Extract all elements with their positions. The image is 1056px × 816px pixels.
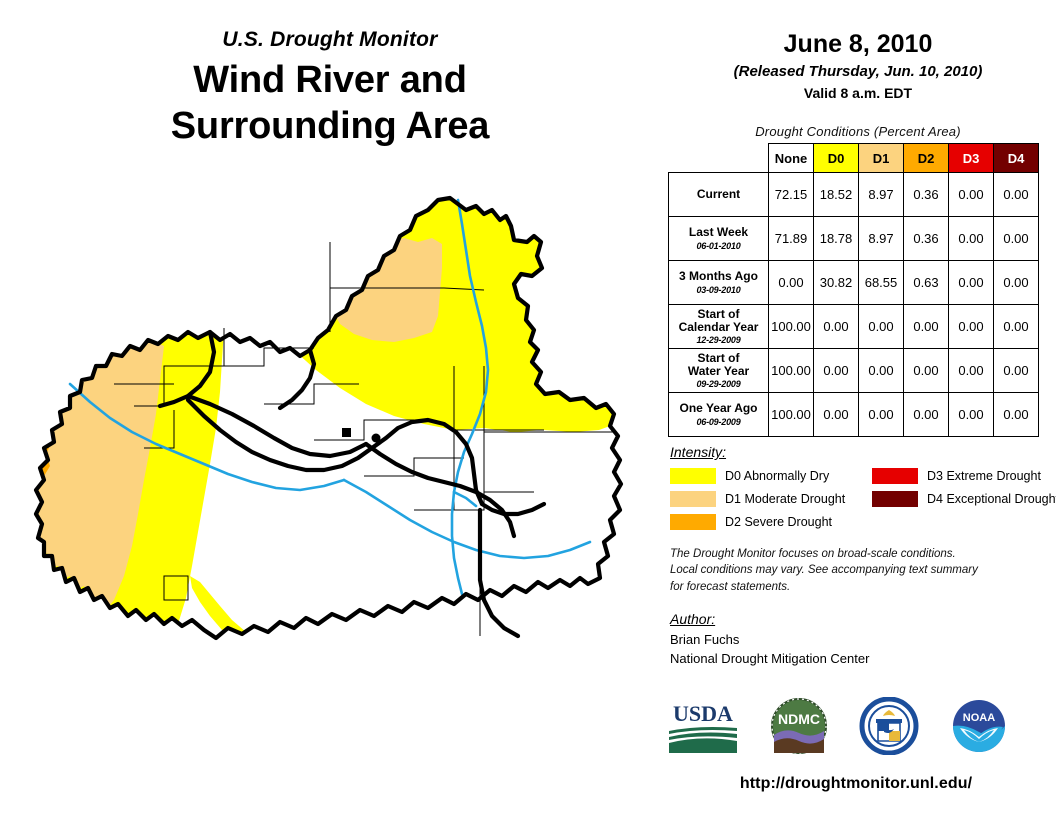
column-header-d0: D0 [814, 144, 859, 173]
column-header-none: None [769, 144, 814, 173]
cell-wateryear-d2: 0.00 [904, 349, 949, 393]
cell-oneyear-none: 100.00 [769, 393, 814, 437]
cell-wateryear-d4: 0.00 [994, 349, 1039, 393]
row-label-text: Current [697, 187, 740, 201]
legend-label-d2: D2 Severe Drought [725, 515, 832, 529]
noaa-logo[interactable]: NOAA [948, 697, 1010, 760]
svg-text:USDA: USDA [673, 701, 733, 726]
row-label-start-water-year: Start of Water Year 09-29-2009 [669, 349, 769, 393]
legend-label-d1: D1 Moderate Drought [725, 492, 845, 506]
cell-3months-d4: 0.00 [994, 261, 1039, 305]
svg-text:NDMC: NDMC [778, 711, 820, 727]
cell-current-none: 72.15 [769, 173, 814, 217]
disclaimer-text: The Drought Monitor focuses on broad-sca… [670, 546, 1050, 595]
row-label-line2: Calendar Year [679, 320, 759, 334]
row-label-line1: Start of [698, 307, 740, 321]
row-label-current: Current [669, 173, 769, 217]
legend-item-d0: D0 Abnormally Dry [670, 467, 870, 484]
cell-calyear-none: 100.00 [769, 305, 814, 349]
legend-item-d4: D4 Exceptional Drought [872, 490, 1056, 507]
row-label-text: One Year Ago [679, 401, 757, 415]
map-title-block: U.S. Drought Monitor Wind River and Surr… [0, 28, 660, 150]
column-header-d4: D4 [994, 144, 1039, 173]
table-caption: Drought Conditions (Percent Area) [666, 124, 1050, 139]
legend-label-d4: D4 Exceptional Drought [927, 492, 1056, 506]
row-label-line1: Start of [698, 351, 740, 365]
row-label-text: 3 Months Ago [679, 269, 758, 283]
logo-row: USDA NDMC [660, 697, 1050, 759]
report-date: June 8, 2010 [666, 30, 1050, 59]
report-header: June 8, 2010 (Released Thursday, Jun. 10… [666, 30, 1050, 101]
cell-calyear-d2: 0.00 [904, 305, 949, 349]
row-label-text: Last Week [689, 225, 748, 239]
row-label-date: 03-09-2010 [669, 285, 768, 295]
author-org: National Drought Mitigation Center [670, 650, 1050, 669]
row-label-one-year-ago: One Year Ago 06-09-2009 [669, 393, 769, 437]
drought-conditions-table: None D0 D1 D2 D3 D4 Current 72.15 18.52 … [668, 143, 1039, 437]
svg-text:NOAA: NOAA [963, 712, 995, 724]
legend-swatch-d1 [670, 491, 716, 507]
legend-swatch-d2 [670, 514, 716, 530]
cell-wateryear-d1: 0.00 [859, 349, 904, 393]
cell-lastweek-d1: 8.97 [859, 217, 904, 261]
cell-current-d1: 8.97 [859, 173, 904, 217]
drought-map[interactable] [14, 180, 654, 720]
cell-calyear-d3: 0.00 [949, 305, 994, 349]
row-label-date: 06-01-2010 [669, 241, 768, 251]
legend-swatch-d3 [872, 468, 918, 484]
cell-lastweek-d2: 0.36 [904, 217, 949, 261]
cell-wateryear-none: 100.00 [769, 349, 814, 393]
table-row: 3 Months Ago 03-09-2010 0.00 30.82 68.55… [669, 261, 1039, 305]
cell-lastweek-d3: 0.00 [949, 217, 994, 261]
row-label-text: Start of Water Year [688, 351, 749, 378]
report-valid: Valid 8 a.m. EDT [666, 85, 1050, 101]
author-block: Author: Brian Fuchs National Drought Mit… [670, 611, 1050, 669]
column-header-d1: D1 [859, 144, 904, 173]
cell-current-d2: 0.36 [904, 173, 949, 217]
legend-swatch-d4 [872, 491, 918, 507]
row-label-date: 06-09-2009 [669, 417, 768, 427]
table-row: One Year Ago 06-09-2009 100.00 0.00 0.00… [669, 393, 1039, 437]
table-corner-cell [669, 144, 769, 173]
row-label-text: Start of Calendar Year [679, 307, 759, 334]
legend-item-d1: D1 Moderate Drought [670, 490, 870, 507]
table-row: Start of Calendar Year 12-29-2009 100.00… [669, 305, 1039, 349]
cell-3months-d2: 0.63 [904, 261, 949, 305]
intensity-legend: Intensity: D0 Abnormally Dry D1 Moderate… [670, 444, 1050, 467]
legend-swatch-d0 [670, 468, 716, 484]
cell-oneyear-d2: 0.00 [904, 393, 949, 437]
table-row: Last Week 06-01-2010 71.89 18.78 8.97 0.… [669, 217, 1039, 261]
cell-3months-d0: 30.82 [814, 261, 859, 305]
cell-calyear-d1: 0.00 [859, 305, 904, 349]
row-label-line2: Water Year [688, 364, 749, 378]
legend-item-d2: D2 Severe Drought [670, 513, 870, 530]
report-released: (Released Thursday, Jun. 10, 2010) [666, 63, 1050, 80]
row-label-start-calendar-year: Start of Calendar Year 12-29-2009 [669, 305, 769, 349]
cell-calyear-d4: 0.00 [994, 305, 1039, 349]
column-header-d2: D2 [904, 144, 949, 173]
ndmc-logo[interactable]: NDMC [768, 697, 830, 760]
cell-current-d0: 18.52 [814, 173, 859, 217]
cell-oneyear-d3: 0.00 [949, 393, 994, 437]
row-label-last-week: Last Week 06-01-2010 [669, 217, 769, 261]
region-title-line1: Wind River and [0, 57, 660, 103]
cell-current-d4: 0.00 [994, 173, 1039, 217]
cell-wateryear-d0: 0.00 [814, 349, 859, 393]
table-row: Start of Water Year 09-29-2009 100.00 0.… [669, 349, 1039, 393]
legend-item-d3: D3 Extreme Drought [872, 467, 1056, 484]
row-label-date: 12-29-2009 [669, 335, 768, 345]
cell-3months-d1: 68.55 [859, 261, 904, 305]
drought-monitor-page: U.S. Drought Monitor Wind River and Surr… [0, 0, 1056, 816]
table-body: Current 72.15 18.52 8.97 0.36 0.00 0.00 … [669, 173, 1039, 437]
cell-lastweek-none: 71.89 [769, 217, 814, 261]
website-url[interactable]: http://droughtmonitor.unl.edu/ [660, 775, 1052, 793]
cell-lastweek-d4: 0.00 [994, 217, 1039, 261]
table-header-row: None D0 D1 D2 D3 D4 [669, 144, 1039, 173]
table-row: Current 72.15 18.52 8.97 0.36 0.00 0.00 [669, 173, 1039, 217]
cell-3months-d3: 0.00 [949, 261, 994, 305]
usda-logo[interactable]: USDA [665, 697, 741, 760]
cell-current-d3: 0.00 [949, 173, 994, 217]
cell-calyear-d0: 0.00 [814, 305, 859, 349]
legend-label-d0: D0 Abnormally Dry [725, 469, 829, 483]
author-name: Brian Fuchs [670, 631, 1050, 650]
column-header-d3: D3 [949, 144, 994, 173]
cell-wateryear-d3: 0.00 [949, 349, 994, 393]
cell-oneyear-d1: 0.00 [859, 393, 904, 437]
row-label-3-months-ago: 3 Months Ago 03-09-2010 [669, 261, 769, 305]
cell-oneyear-d4: 0.00 [994, 393, 1039, 437]
cell-lastweek-d0: 18.78 [814, 217, 859, 261]
row-label-date: 09-29-2009 [669, 379, 768, 389]
intensity-heading: Intensity: [670, 444, 1050, 460]
region-title-line2: Surrounding Area [0, 103, 660, 149]
author-heading: Author: [670, 611, 1050, 627]
agency-title: U.S. Drought Monitor [0, 28, 660, 51]
legend-label-d3: D3 Extreme Drought [927, 469, 1041, 483]
cell-oneyear-d0: 0.00 [814, 393, 859, 437]
usdc-seal-logo[interactable] [858, 697, 920, 760]
cell-3months-none: 0.00 [769, 261, 814, 305]
